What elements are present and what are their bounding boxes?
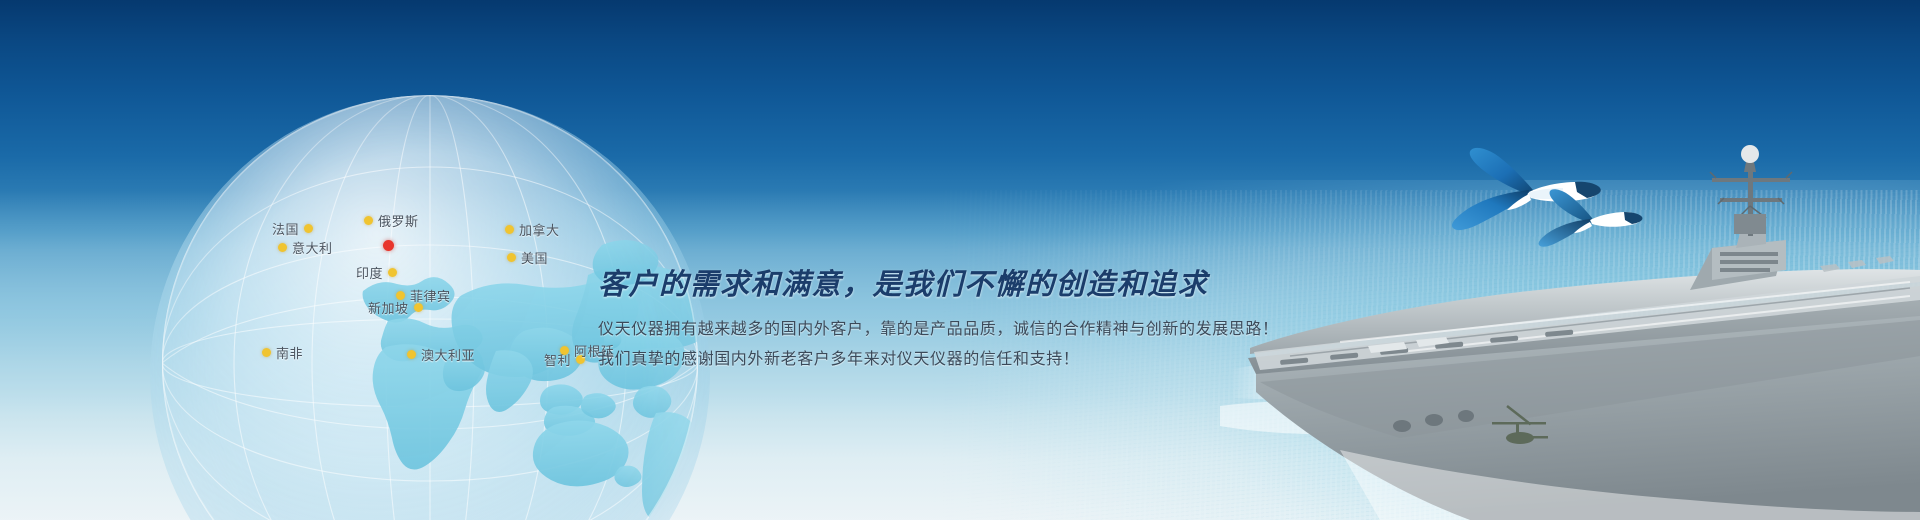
- map-marker-label: 美国: [521, 248, 548, 267]
- marker-dot-icon: [396, 291, 405, 300]
- map-marker-highlight: [383, 240, 394, 251]
- radar-dome: [1741, 145, 1759, 163]
- map-marker-意大利: 意大利: [278, 238, 333, 257]
- map-marker-澳大利亚: 澳大利亚: [407, 345, 475, 364]
- map-marker-法国: 法国: [272, 219, 313, 238]
- map-marker-菲律宾: 菲律宾: [396, 286, 451, 305]
- map-marker-印度: 印度: [356, 263, 397, 282]
- map-marker-label: 意大利: [292, 238, 333, 257]
- map-marker-label: 俄罗斯: [378, 211, 419, 230]
- marker-dot-icon: [262, 348, 271, 357]
- map-marker-南非: 南非: [262, 343, 303, 362]
- carrier-mast: [1710, 145, 1792, 236]
- map-marker-label: 加拿大: [519, 220, 560, 239]
- marker-dot-icon: [278, 243, 287, 252]
- marker-dot-icon: [388, 268, 397, 277]
- marker-dot-icon: [505, 225, 514, 234]
- map-marker-加拿大: 加拿大: [505, 220, 560, 239]
- aircraft-carrier: [1220, 120, 1920, 520]
- marker-dot-highlight-icon: [383, 240, 394, 251]
- map-marker-label: 印度: [356, 263, 383, 282]
- marker-dot-icon: [507, 253, 516, 262]
- hero-banner: 法国意大利俄罗斯印度新加坡菲律宾南非澳大利亚加拿大美国智利阿根廷 客户的需求和满…: [0, 0, 1920, 520]
- marker-dot-icon: [364, 216, 373, 225]
- map-marker-label: 澳大利亚: [421, 345, 475, 364]
- marker-dot-icon: [304, 224, 313, 233]
- map-marker-label: 南非: [276, 343, 303, 362]
- marker-dot-icon: [560, 346, 569, 355]
- map-marker-label: 法国: [272, 219, 299, 238]
- map-marker-俄罗斯: 俄罗斯: [364, 211, 419, 230]
- marker-dot-icon: [407, 350, 416, 359]
- map-marker-label: 菲律宾: [410, 286, 451, 305]
- map-marker-美国: 美国: [507, 248, 548, 267]
